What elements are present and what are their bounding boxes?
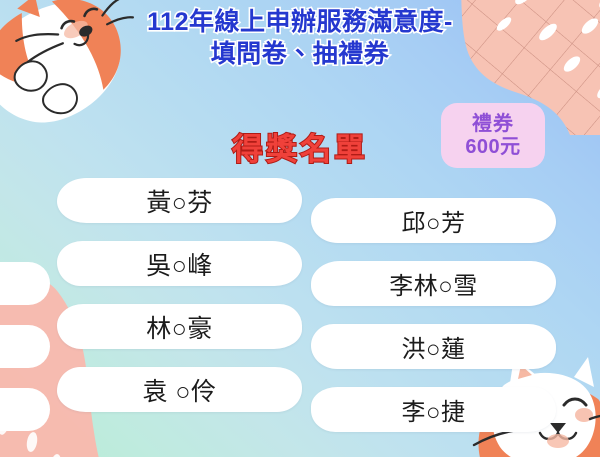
voucher-amount: 600元: [465, 136, 520, 158]
voucher-badge: 禮券 600元: [441, 103, 545, 168]
winner-name: 李林○雪: [389, 266, 478, 301]
winner-column-left: 黃○芬 吳○峰 林○豪 袁 ○伶: [57, 178, 302, 430]
winner-pill: 邱○芳: [311, 198, 556, 243]
winner-name: 邱○芳: [402, 203, 466, 238]
poster-title: 112年線上申辦服務滿意度- 填問卷、抽禮券: [0, 6, 600, 70]
winner-announcement-poster: 112年線上申辦服務滿意度- 填問卷、抽禮券 得獎名單 禮券 600元 黃○芬 …: [0, 0, 600, 457]
winner-pill: 洪○蓮: [311, 324, 556, 369]
winner-pill: 黃○芬: [57, 178, 302, 223]
winner-name: 吳○峰: [146, 246, 213, 282]
winner-name: 洪○蓮: [402, 329, 466, 364]
winner-name: 李○捷: [402, 392, 466, 427]
winner-column-right: 邱○芳 李林○雪 洪○蓮 李○捷: [311, 198, 556, 450]
winner-pill: 吳○峰: [57, 241, 302, 286]
title-line-2: 填問卷、抽禮券: [0, 38, 600, 70]
winner-name: 黃○芬: [146, 183, 213, 219]
winner-name: 袁 ○伶: [142, 372, 216, 408]
voucher-label: 禮券: [472, 113, 514, 135]
winner-pill: 李○捷: [311, 387, 556, 432]
title-line-1: 112年線上申辦服務滿意度-: [0, 6, 600, 38]
winner-pill: 李林○雪: [311, 261, 556, 306]
winner-name: 林○豪: [146, 309, 213, 345]
winner-list: 黃○芬 吳○峰 林○豪 袁 ○伶 邱○芳 李林○雪 洪○蓮 李○捷: [0, 178, 600, 448]
winner-pill: 袁 ○伶: [57, 367, 302, 412]
winner-pill: 林○豪: [57, 304, 302, 349]
